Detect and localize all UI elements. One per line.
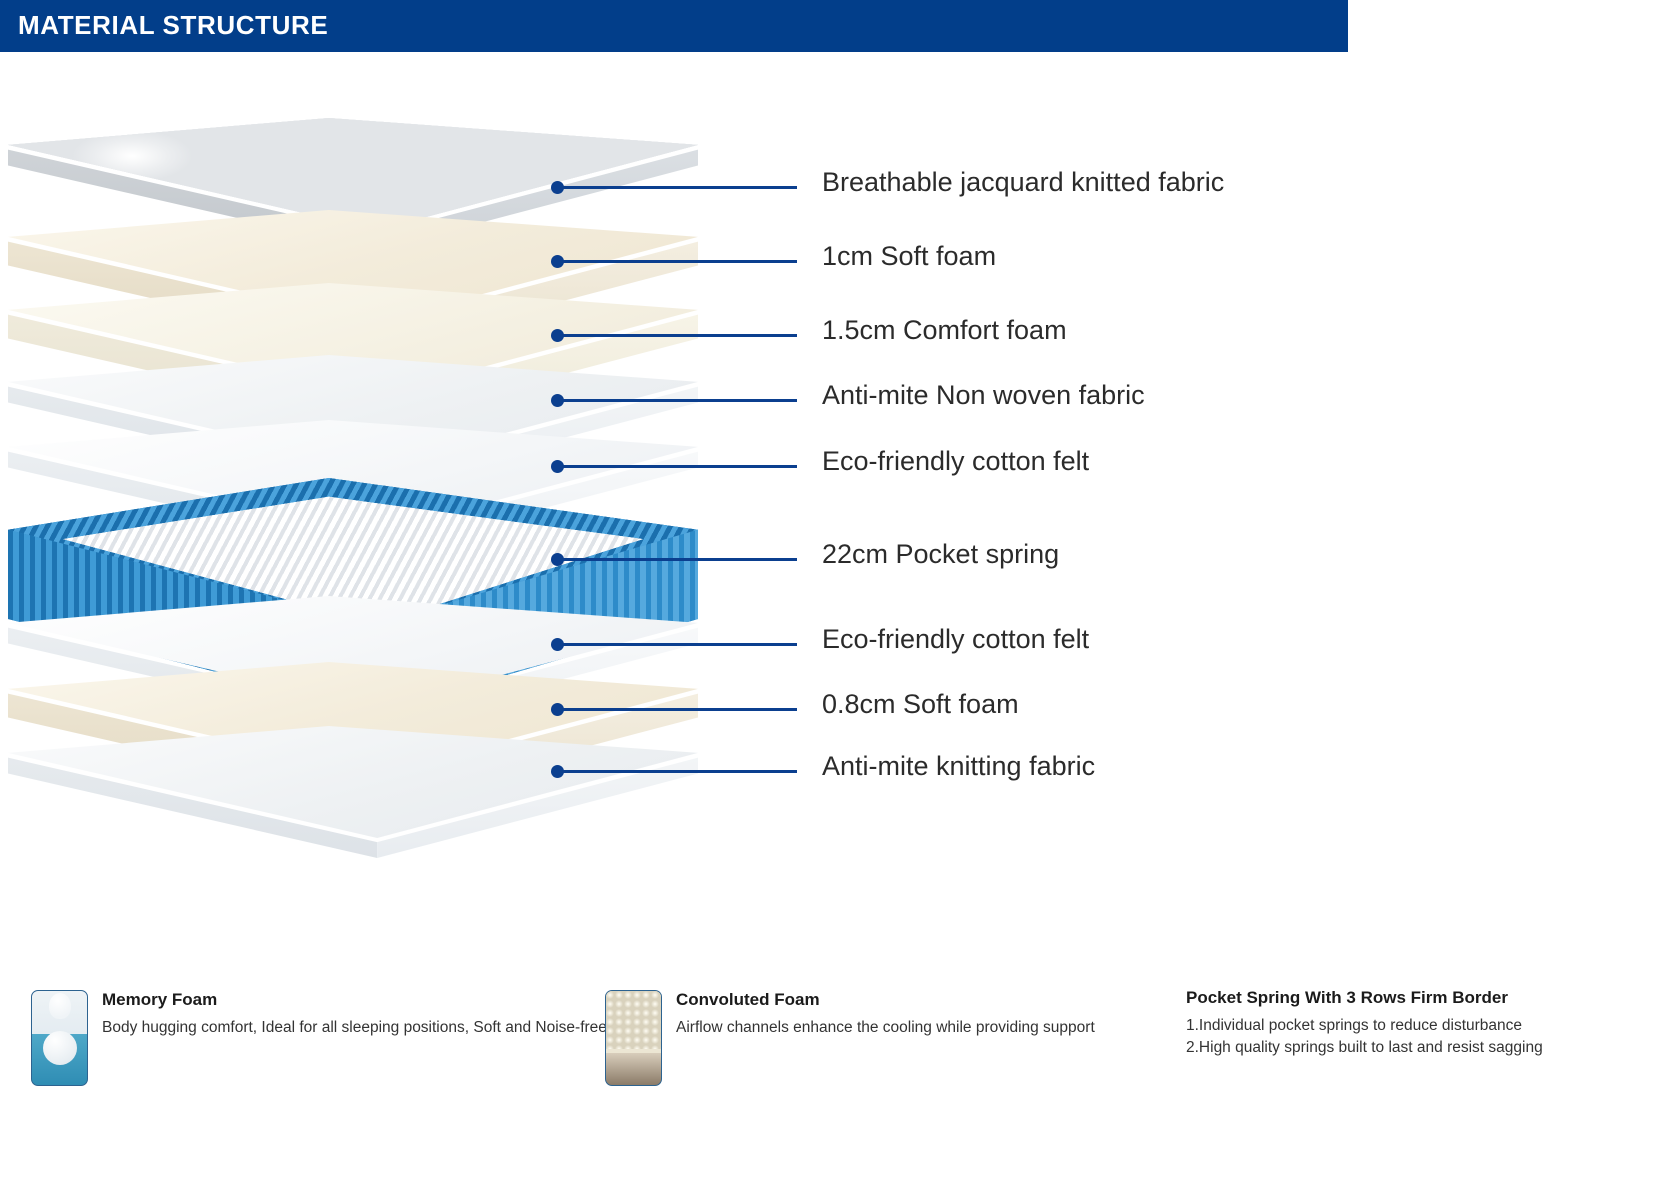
callout-line bbox=[562, 643, 797, 646]
callout-label-9: Anti-mite knitting fabric bbox=[822, 751, 1095, 782]
feature-desc-convoluted-foam: Airflow channels enhance the cooling whi… bbox=[676, 1019, 1095, 1037]
foam-ball-shape bbox=[43, 1031, 77, 1065]
callout-label-2: 1cm Soft foam bbox=[822, 241, 996, 272]
feature-card-convoluted-foam: Convoluted Foam Airflow channels enhance… bbox=[605, 990, 1095, 1086]
callout-line bbox=[562, 558, 797, 561]
feature-desc-pocket-spring-1: 1.Individual pocket springs to reduce di… bbox=[1186, 1017, 1543, 1035]
callout-line bbox=[562, 260, 797, 263]
feature-desc-memory-foam: Body hugging comfort, Ideal for all slee… bbox=[102, 1019, 607, 1037]
callout-line bbox=[562, 399, 797, 402]
callout-label-4: Anti-mite Non woven fabric bbox=[822, 380, 1145, 411]
footer-feature-panels: Memory Foam Body hugging comfort, Ideal … bbox=[0, 990, 1668, 1190]
feature-title-pocket-spring: Pocket Spring With 3 Rows Firm Border bbox=[1186, 988, 1543, 1008]
egg-crate-texture bbox=[606, 991, 661, 1049]
memory-foam-thumbnail-icon bbox=[31, 990, 88, 1086]
feature-title-convoluted-foam: Convoluted Foam bbox=[676, 990, 1095, 1010]
feature-text: Pocket Spring With 3 Rows Firm Border 1.… bbox=[1186, 990, 1543, 1057]
callout-line bbox=[562, 334, 797, 337]
callout-label-3: 1.5cm Comfort foam bbox=[822, 315, 1067, 346]
mattress-layer-9 bbox=[8, 726, 698, 876]
callout-label-7: Eco-friendly cotton felt bbox=[822, 624, 1089, 655]
callout-line bbox=[562, 708, 797, 711]
callout-line bbox=[562, 770, 797, 773]
callout-label-1: Breathable jacquard knitted fabric bbox=[822, 167, 1224, 198]
convoluted-foam-thumbnail-icon bbox=[605, 990, 662, 1086]
callout-label-6: 22cm Pocket spring bbox=[822, 539, 1059, 570]
feature-title-memory-foam: Memory Foam bbox=[102, 990, 607, 1010]
callout-label-5: Eco-friendly cotton felt bbox=[822, 446, 1089, 477]
mattress-layer-diagram: Breathable jacquard knitted fabric 1cm S… bbox=[0, 0, 1668, 980]
feature-card-memory-foam: Memory Foam Body hugging comfort, Ideal … bbox=[31, 990, 607, 1086]
layer-slab bbox=[8, 726, 698, 876]
callout-line bbox=[562, 465, 797, 468]
foam-drop-shape bbox=[49, 993, 71, 1019]
feature-card-pocket-spring: Pocket Spring With 3 Rows Firm Border 1.… bbox=[1186, 990, 1543, 1057]
feature-text: Convoluted Foam Airflow channels enhance… bbox=[676, 990, 1095, 1037]
feature-desc-pocket-spring-2: 2.High quality springs built to last and… bbox=[1186, 1039, 1543, 1057]
callout-label-8: 0.8cm Soft foam bbox=[822, 689, 1019, 720]
feature-text: Memory Foam Body hugging comfort, Ideal … bbox=[102, 990, 607, 1037]
callout-line bbox=[562, 186, 797, 189]
